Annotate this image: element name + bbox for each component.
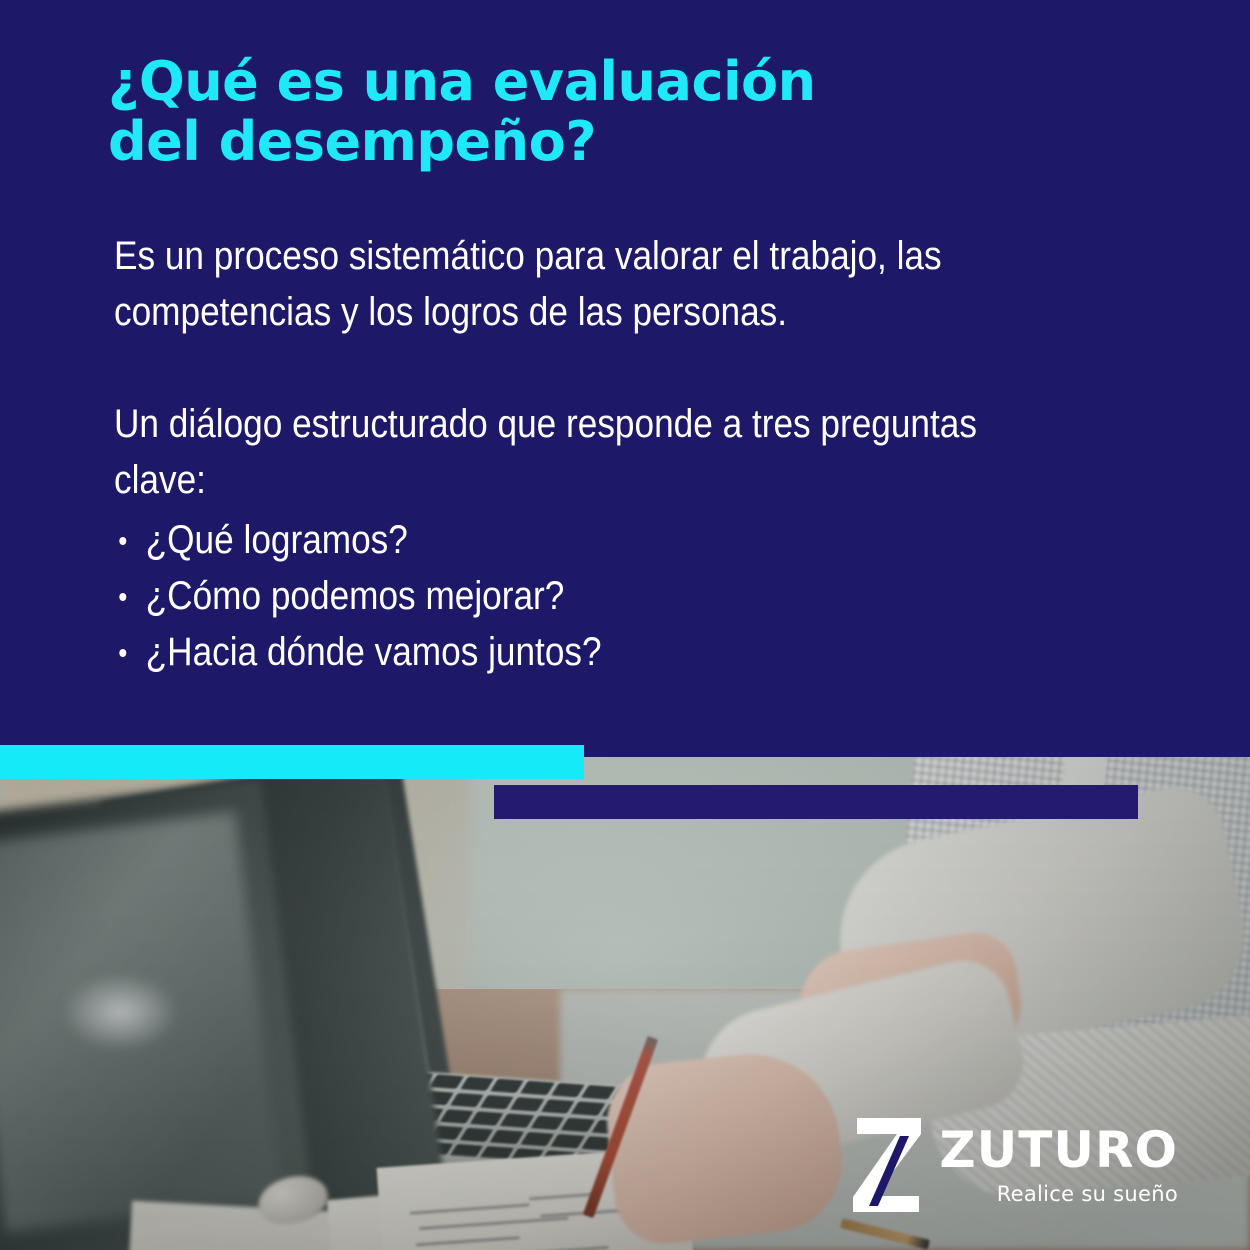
cyan-accent-bar: [0, 745, 584, 779]
bullet-dot-icon: [119, 649, 126, 657]
z-monogram-icon: [851, 1118, 925, 1212]
page-title-line-1: ¿Qué es una evaluación: [108, 52, 988, 112]
brand-logo-text: ZUTURO Realice su sueño: [939, 1125, 1178, 1206]
page-title: ¿Qué es una evaluación del desempeño?: [108, 52, 988, 173]
list-item-label: ¿Cómo podemos mejorar?: [146, 574, 565, 618]
list-item: ¿Hacia dónde vamos juntos?: [114, 624, 1003, 680]
body-copy: Es un proceso sistemático para valorar e…: [114, 228, 1003, 680]
bullet-dot-icon: [119, 537, 126, 545]
list-item: ¿Cómo podemos mejorar?: [114, 568, 1003, 624]
brand-name: ZUTURO: [939, 1125, 1178, 1175]
poster-card: ¿Qué es una evaluación del desempeño? Es…: [0, 0, 1250, 1250]
paragraph-spacer: [114, 340, 1003, 396]
brand-logo: ZUTURO Realice su sueño: [851, 1118, 1178, 1212]
navy-accent-bar: [494, 785, 1138, 819]
bullet-dot-icon: [119, 593, 126, 601]
list-item: ¿Qué logramos?: [114, 512, 1003, 568]
paragraph-questions-intro: Un diálogo estructurado que responde a t…: [114, 396, 1003, 508]
list-item-label: ¿Hacia dónde vamos juntos?: [146, 630, 602, 674]
copy-panel: ¿Qué es una evaluación del desempeño? Es…: [0, 0, 1250, 757]
paragraph-definition: Es un proceso sistemático para valorar e…: [114, 228, 1003, 340]
brand-tagline: Realice su sueño: [997, 1182, 1178, 1206]
key-questions-list: ¿Qué logramos? ¿Cómo podemos mejorar? ¿H…: [114, 512, 1003, 680]
list-item-label: ¿Qué logramos?: [146, 518, 408, 562]
page-title-line-2: del desempeño?: [108, 112, 988, 172]
